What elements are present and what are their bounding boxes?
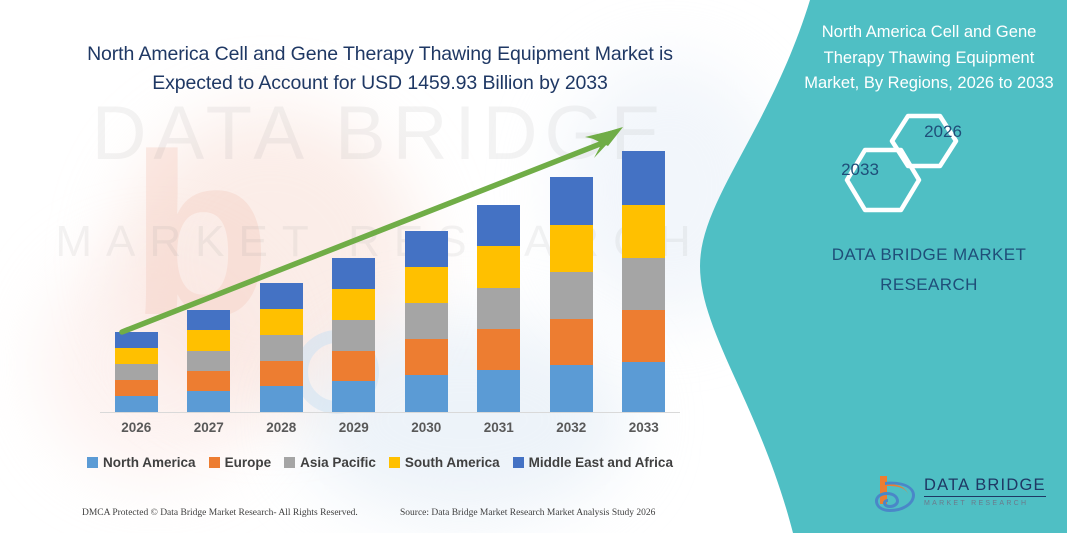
bar-stack bbox=[260, 283, 303, 412]
bar-segment bbox=[550, 365, 593, 412]
hexagon-2026-label: 2026 bbox=[895, 122, 991, 142]
bar-column-2031 bbox=[463, 120, 535, 412]
panel-content: North America Cell and Gene Therapy Thaw… bbox=[790, 0, 1067, 533]
bar-segment bbox=[332, 381, 375, 412]
bar-stack bbox=[115, 332, 158, 412]
x-axis-label-2026: 2026 bbox=[100, 420, 172, 435]
bar-segment bbox=[260, 361, 303, 386]
bar-segment bbox=[622, 362, 665, 412]
x-axis-label-2032: 2032 bbox=[535, 420, 607, 435]
bar-segment bbox=[187, 351, 230, 371]
legend-swatch-icon bbox=[389, 457, 400, 468]
bar-column-2029 bbox=[318, 120, 390, 412]
dbmr-logo-rule bbox=[924, 496, 1046, 497]
bar-stack bbox=[332, 258, 375, 412]
bar-segment bbox=[550, 272, 593, 319]
legend-item[interactable]: South America bbox=[389, 455, 500, 470]
bar-segment bbox=[477, 205, 520, 246]
bar-stack bbox=[622, 151, 665, 412]
x-axis-label-2027: 2027 bbox=[173, 420, 245, 435]
legend-label: North America bbox=[103, 455, 196, 470]
bar-segment bbox=[260, 283, 303, 309]
bar-segment bbox=[405, 339, 448, 375]
x-axis-label-2030: 2030 bbox=[390, 420, 462, 435]
bar-segment bbox=[550, 177, 593, 225]
bar-segment bbox=[187, 371, 230, 391]
bar-segment bbox=[260, 309, 303, 335]
bar-chart-plot-area bbox=[100, 120, 680, 412]
dbmr-logo-icon bbox=[872, 472, 918, 516]
panel-title: North America Cell and Gene Therapy Thaw… bbox=[796, 20, 1062, 97]
bar-segment bbox=[115, 348, 158, 364]
bar-column-2033 bbox=[608, 120, 680, 412]
bar-column-2027 bbox=[173, 120, 245, 412]
panel-brand: DATA BRIDGE MARKET RESEARCH bbox=[796, 240, 1062, 300]
bar-column-2030 bbox=[390, 120, 462, 412]
legend-swatch-icon bbox=[87, 457, 98, 468]
bar-segment bbox=[477, 329, 520, 370]
chart-title: North America Cell and Gene Therapy Thaw… bbox=[60, 40, 700, 98]
bar-segment bbox=[622, 310, 665, 362]
bar-segment bbox=[115, 364, 158, 380]
legend-item[interactable]: Asia Pacific bbox=[284, 455, 376, 470]
dbmr-logo-subtitle: MARKET RESEARCH bbox=[924, 500, 1049, 507]
bar-segment bbox=[332, 320, 375, 351]
bar-segment bbox=[332, 289, 375, 320]
bar-segment bbox=[187, 310, 230, 330]
bar-segment bbox=[477, 246, 520, 288]
legend-label: South America bbox=[405, 455, 500, 470]
panel-brand-line-2: RESEARCH bbox=[796, 270, 1062, 300]
legend-item[interactable]: Europe bbox=[209, 455, 272, 470]
legend-label: Middle East and Africa bbox=[529, 455, 673, 470]
x-axis-label-2028: 2028 bbox=[245, 420, 317, 435]
bar-segment bbox=[260, 386, 303, 412]
footer-copyright: DMCA Protected © Data Bridge Market Rese… bbox=[82, 508, 358, 518]
bar-segment bbox=[622, 258, 665, 310]
bar-segment bbox=[550, 225, 593, 272]
bar-segment bbox=[115, 396, 158, 412]
bar-segment bbox=[187, 391, 230, 412]
infographic-root: b DATA BRIDGE MARKET RESEARCH North Amer… bbox=[0, 0, 1067, 533]
legend-item[interactable]: North America bbox=[87, 455, 196, 470]
chart-legend: North AmericaEuropeAsia PacificSouth Ame… bbox=[60, 455, 700, 470]
footer-source: Source: Data Bridge Market Research Mark… bbox=[400, 508, 655, 518]
bar-column-2028 bbox=[245, 120, 317, 412]
bar-stack bbox=[477, 205, 520, 412]
dbmr-logo-title: DATA BRIDGE bbox=[924, 476, 1049, 494]
bar-stack bbox=[550, 177, 593, 412]
legend-label: Europe bbox=[225, 455, 272, 470]
bar-column-2032 bbox=[535, 120, 607, 412]
bar-segment bbox=[550, 319, 593, 365]
bar-stack bbox=[187, 310, 230, 412]
x-axis-label-2033: 2033 bbox=[608, 420, 680, 435]
legend-label: Asia Pacific bbox=[300, 455, 376, 470]
bar-segment bbox=[115, 332, 158, 348]
bar-segment bbox=[187, 330, 230, 351]
dbmr-logo: DATA BRIDGE MARKET RESEARCH bbox=[872, 472, 1047, 518]
legend-item[interactable]: Middle East and Africa bbox=[513, 455, 673, 470]
legend-swatch-icon bbox=[209, 457, 220, 468]
panel-brand-line-1: DATA BRIDGE MARKET bbox=[796, 240, 1062, 270]
x-axis-line bbox=[100, 412, 680, 413]
x-axis-label-2031: 2031 bbox=[463, 420, 535, 435]
bar-segment bbox=[405, 375, 448, 412]
bar-column-2026 bbox=[100, 120, 172, 412]
bar-segment bbox=[332, 351, 375, 381]
bar-segment bbox=[115, 380, 158, 396]
dbmr-logo-text: DATA BRIDGE MARKET RESEARCH bbox=[924, 476, 1049, 507]
bar-segment bbox=[405, 231, 448, 267]
bar-segment bbox=[332, 258, 375, 289]
bar-segment bbox=[405, 303, 448, 339]
legend-swatch-icon bbox=[513, 457, 524, 468]
bar-segment bbox=[260, 335, 303, 361]
legend-swatch-icon bbox=[284, 457, 295, 468]
bar-segment bbox=[477, 370, 520, 412]
bar-segment bbox=[477, 288, 520, 329]
bar-segment bbox=[622, 205, 665, 258]
bar-segment bbox=[405, 267, 448, 303]
bar-stack bbox=[405, 231, 448, 412]
hexagon-2033-label: 2033 bbox=[812, 160, 908, 180]
bar-segment bbox=[622, 151, 665, 205]
x-axis-labels: 20262027202820292030203120322033 bbox=[100, 420, 680, 435]
x-axis-label-2029: 2029 bbox=[318, 420, 390, 435]
